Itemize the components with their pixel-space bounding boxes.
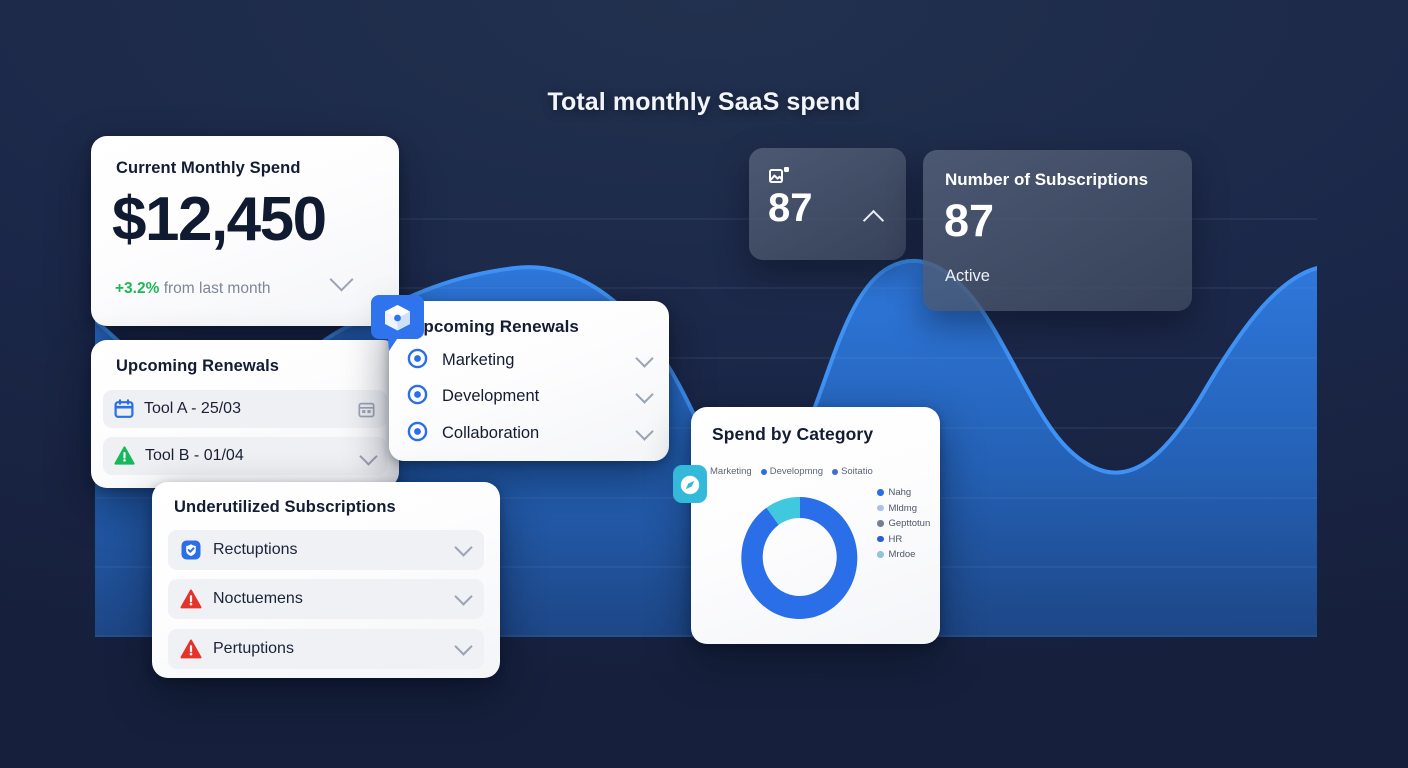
list-item-label: Marketing	[442, 351, 514, 370]
legend-entry: Developmng	[761, 466, 823, 477]
legend-dot-icon	[877, 489, 884, 496]
spend-by-category-title: Spend by Category	[712, 424, 873, 445]
calendar-small-icon[interactable]	[358, 401, 375, 418]
list-item[interactable]: Development	[407, 381, 651, 412]
spend-delta-pct: +3.2%	[115, 280, 159, 297]
underutilized-title: Underutilized Subscriptions	[174, 498, 396, 517]
upcoming-renewals-card: Upcoming Renewals Tool A - 25/03	[91, 340, 399, 488]
list-item-label: Pertuptions	[213, 640, 294, 658]
list-item[interactable]: Tool B - 01/04	[103, 437, 387, 475]
list-item-label: Tool B - 01/04	[145, 447, 244, 465]
list-item-label: Tool A - 25/03	[144, 400, 241, 418]
kpi-small-value: 87	[768, 188, 813, 228]
underutilized-subscriptions-card: Underutilized Subscriptions Rectuptions	[152, 482, 500, 678]
kpi-card-small[interactable]: 87	[749, 148, 906, 260]
upcoming-renewals-float-card: Upcoming Renewals Marketing Development	[389, 301, 669, 461]
current-monthly-spend-card: Current Monthly Spend $12,450 +3.2% from…	[91, 136, 399, 326]
legend-entry: Soitatio	[832, 466, 873, 477]
legend-label: Gepttotun	[889, 518, 931, 529]
chevron-down-icon[interactable]	[333, 271, 350, 293]
legend-label: Marketing	[710, 466, 752, 477]
legend-label: HR	[889, 534, 903, 545]
legend-dot-icon	[877, 505, 884, 512]
legend-dot-icon	[877, 536, 884, 543]
list-item[interactable]: Pertuptions	[168, 629, 484, 669]
donut-side-legend: Nahg Mldmg Gepttotun HR Mrdoe	[877, 487, 930, 560]
radio-target-icon	[407, 384, 428, 410]
spend-card-title: Current Monthly Spend	[116, 159, 301, 178]
legend-label: Mldmg	[889, 503, 918, 514]
donut-top-legend: Marketing Developmng Soitatio	[710, 466, 925, 477]
chevron-down-icon[interactable]	[638, 352, 651, 370]
spend-amount-value: $12,450	[112, 189, 326, 251]
list-item[interactable]: Collaboration	[407, 418, 651, 449]
legend-label: Nahg	[889, 487, 912, 498]
kpi-subscriptions-label: Number of Subscriptions	[945, 170, 1148, 190]
legend-entry: Nahg	[877, 487, 930, 498]
legend-entry: HR	[877, 534, 930, 545]
legend-label: Soitatio	[841, 466, 873, 477]
legend-dot-icon	[832, 469, 838, 475]
chevron-down-icon[interactable]	[457, 590, 470, 608]
compass-badge[interactable]	[673, 465, 707, 503]
spend-delta: +3.2% from last month	[115, 280, 271, 298]
chevron-down-icon[interactable]	[457, 541, 470, 559]
radio-target-icon	[407, 421, 428, 447]
list-item[interactable]: Noctuemens	[168, 579, 484, 619]
chevron-down-icon[interactable]	[362, 450, 375, 463]
list-item-label: Collaboration	[442, 424, 539, 443]
warning-triangle-icon	[114, 446, 135, 466]
cube-badge[interactable]	[371, 295, 424, 351]
legend-label: Developmng	[770, 466, 823, 477]
status-badge: Active	[945, 267, 990, 286]
chevron-down-icon[interactable]	[638, 425, 651, 443]
legend-dot-icon	[877, 551, 884, 558]
radio-target-icon	[407, 348, 428, 374]
upcoming-renewals-float-title: Upcoming Renewals	[411, 317, 579, 337]
upcoming-renewals-title: Upcoming Renewals	[116, 357, 279, 376]
compass-icon	[681, 476, 699, 494]
legend-dot-icon	[761, 469, 767, 475]
chevron-down-icon[interactable]	[638, 388, 651, 406]
kpi-card-subscriptions[interactable]: Number of Subscriptions 87 Active	[923, 150, 1192, 311]
list-item-label: Rectuptions	[213, 541, 298, 559]
legend-entry: Mrdoe	[877, 549, 930, 560]
legend-dot-icon	[877, 520, 884, 527]
list-item[interactable]: Tool A - 25/03	[103, 390, 387, 428]
legend-entry: Marketing	[710, 466, 752, 477]
spend-delta-suffix: from last month	[159, 280, 270, 297]
legend-entry: Gepttotun	[877, 518, 930, 529]
dashboard-stage: Total monthly SaaS spend 87 Number of Su…	[0, 0, 1408, 768]
chevron-down-icon[interactable]	[457, 640, 470, 658]
warning-triangle-icon	[180, 589, 202, 610]
list-item-label: Development	[442, 387, 539, 406]
legend-entry: Mldmg	[877, 503, 930, 514]
page-title: Total monthly SaaS spend	[0, 88, 1408, 117]
shield-check-icon	[180, 539, 202, 561]
kpi-subscriptions-value: 87	[944, 198, 994, 243]
list-item-label: Noctuemens	[213, 590, 303, 608]
list-item[interactable]: Rectuptions	[168, 530, 484, 570]
chevron-up-icon[interactable]	[866, 213, 881, 233]
legend-label: Mrdoe	[889, 549, 916, 560]
warning-triangle-icon	[180, 639, 202, 660]
list-item[interactable]: Marketing	[407, 345, 651, 376]
spend-by-category-donut	[738, 489, 862, 621]
calendar-icon	[114, 399, 134, 419]
